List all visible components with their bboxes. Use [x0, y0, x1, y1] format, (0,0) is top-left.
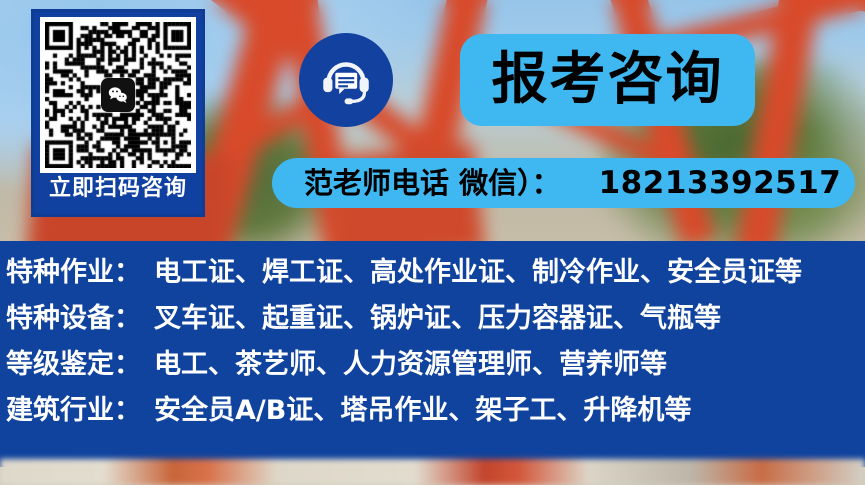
qr-code-surface[interactable] — [40, 17, 196, 173]
contact-phone-number[interactable]: 18213392517 — [599, 168, 842, 199]
contact-pill[interactable]: 范老师电话 微信）： 18213392517 — [272, 158, 855, 208]
service-items: 安全员A/B证、塔吊作业、架子工、升降机等 — [154, 397, 691, 424]
service-items: 电工、茶艺师、人力资源管理师、营养师等 — [154, 351, 667, 378]
service-category: 等级鉴定： — [6, 351, 154, 378]
promotional-poster: 立即扫码咨询 报考咨询 范老师电话 微信）： 18213392517 — [0, 0, 865, 485]
contact-label: 范老师电话 微信）： — [304, 169, 561, 198]
qr-card-caption: 立即扫码咨询 — [49, 178, 187, 200]
service-row: 建筑行业： 安全员A/B证、塔吊作业、架子工、升降机等 — [6, 397, 865, 443]
service-category: 特种作业： — [6, 259, 154, 286]
service-row: 特种设备： 叉车证、起重证、锅炉证、压力容器证、气瓶等 — [6, 305, 865, 351]
qr-code-card[interactable]: 立即扫码咨询 — [31, 9, 205, 217]
services-panel: 特种作业： 电工证、焊工证、高处作业证、制冷作业、安全员证等 特种设备： 叉车证… — [0, 241, 865, 467]
page-title: 报考咨询 — [492, 52, 724, 108]
background-ground-strip — [0, 459, 865, 485]
service-items: 叉车证、起重证、锅炉证、压力容器证、气瓶等 — [154, 305, 721, 332]
service-category: 特种设备： — [6, 305, 154, 332]
headset-support-icon — [299, 33, 393, 127]
service-items: 电工证、焊工证、高处作业证、制冷作业、安全员证等 — [154, 259, 802, 286]
wechat-icon — [101, 78, 135, 112]
service-category: 建筑行业： — [6, 397, 154, 424]
title-pill: 报考咨询 — [460, 34, 755, 126]
service-row: 特种作业： 电工证、焊工证、高处作业证、制冷作业、安全员证等 — [6, 259, 865, 305]
service-row: 等级鉴定： 电工、茶艺师、人力资源管理师、营养师等 — [6, 351, 865, 397]
